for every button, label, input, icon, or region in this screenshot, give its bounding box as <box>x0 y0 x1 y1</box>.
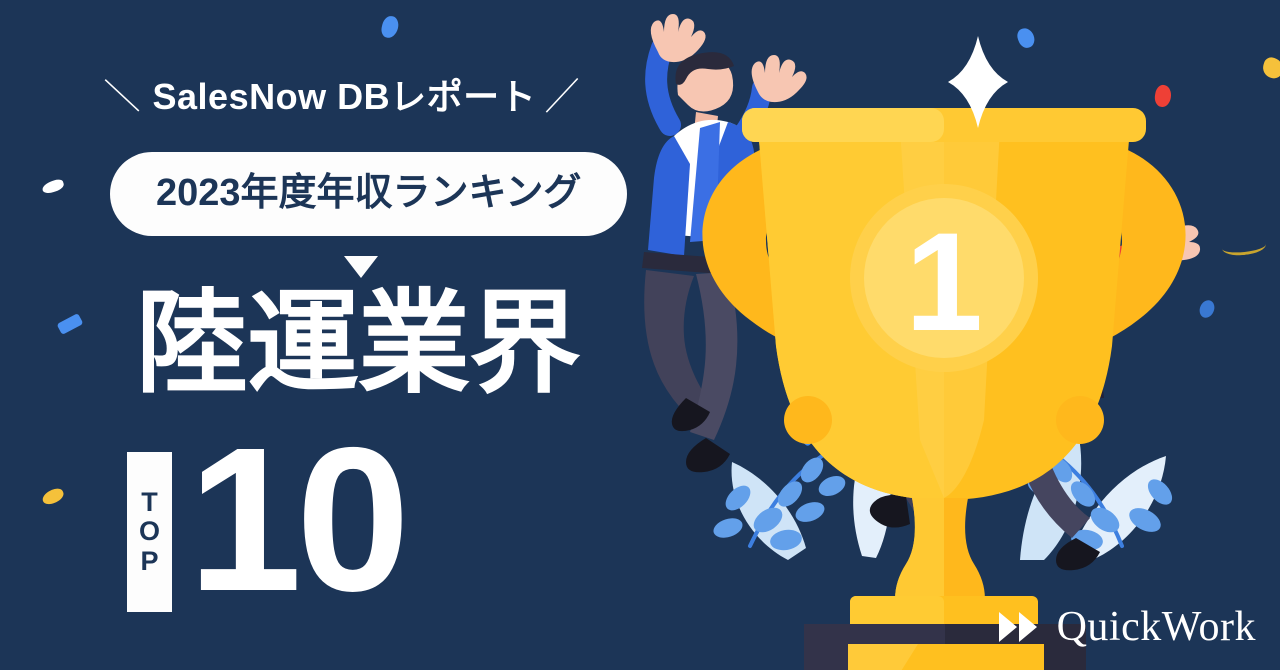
top-letter-t: T <box>141 488 158 517</box>
badge-callout: 2023年度年収ランキング <box>110 152 627 236</box>
confetti-white <box>41 178 65 195</box>
rank-number: 10 <box>188 430 404 610</box>
confetti-blue <box>380 14 401 39</box>
trophy-illustration: 1 <box>600 0 1280 670</box>
kicker-line: ＼SalesNow DBレポート／ <box>104 68 581 120</box>
brand-logo: QuickWork <box>997 606 1256 648</box>
kicker-text: SalesNow DBレポート <box>153 76 537 117</box>
confetti-yellow <box>40 486 65 507</box>
badge-tail-icon <box>344 256 378 278</box>
double-chevron-icon <box>997 610 1043 644</box>
page-title: 陸運業界 <box>136 288 580 400</box>
trophy: 1 <box>702 36 1185 670</box>
top-letter-p: P <box>140 547 158 576</box>
brand-name: QuickWork <box>1057 606 1256 648</box>
poster-canvas: 1 ＼SalesNow DBレポート／ 2023年度年収ランキング 陸運業界 <box>0 0 1280 670</box>
top-letter-o: O <box>139 517 160 546</box>
trophy-medal-number: 1 <box>905 203 983 360</box>
rank-block: T O P 10 <box>127 430 404 612</box>
top-label-box: T O P <box>127 452 172 612</box>
confetti-blue <box>57 313 84 335</box>
badge-pill: 2023年度年収ランキング <box>110 152 627 236</box>
slash-right-icon: ／ <box>543 67 581 120</box>
badge-label: 2023年度年収ランキング <box>156 174 581 212</box>
slash-left-icon: ＼ <box>103 67 141 120</box>
